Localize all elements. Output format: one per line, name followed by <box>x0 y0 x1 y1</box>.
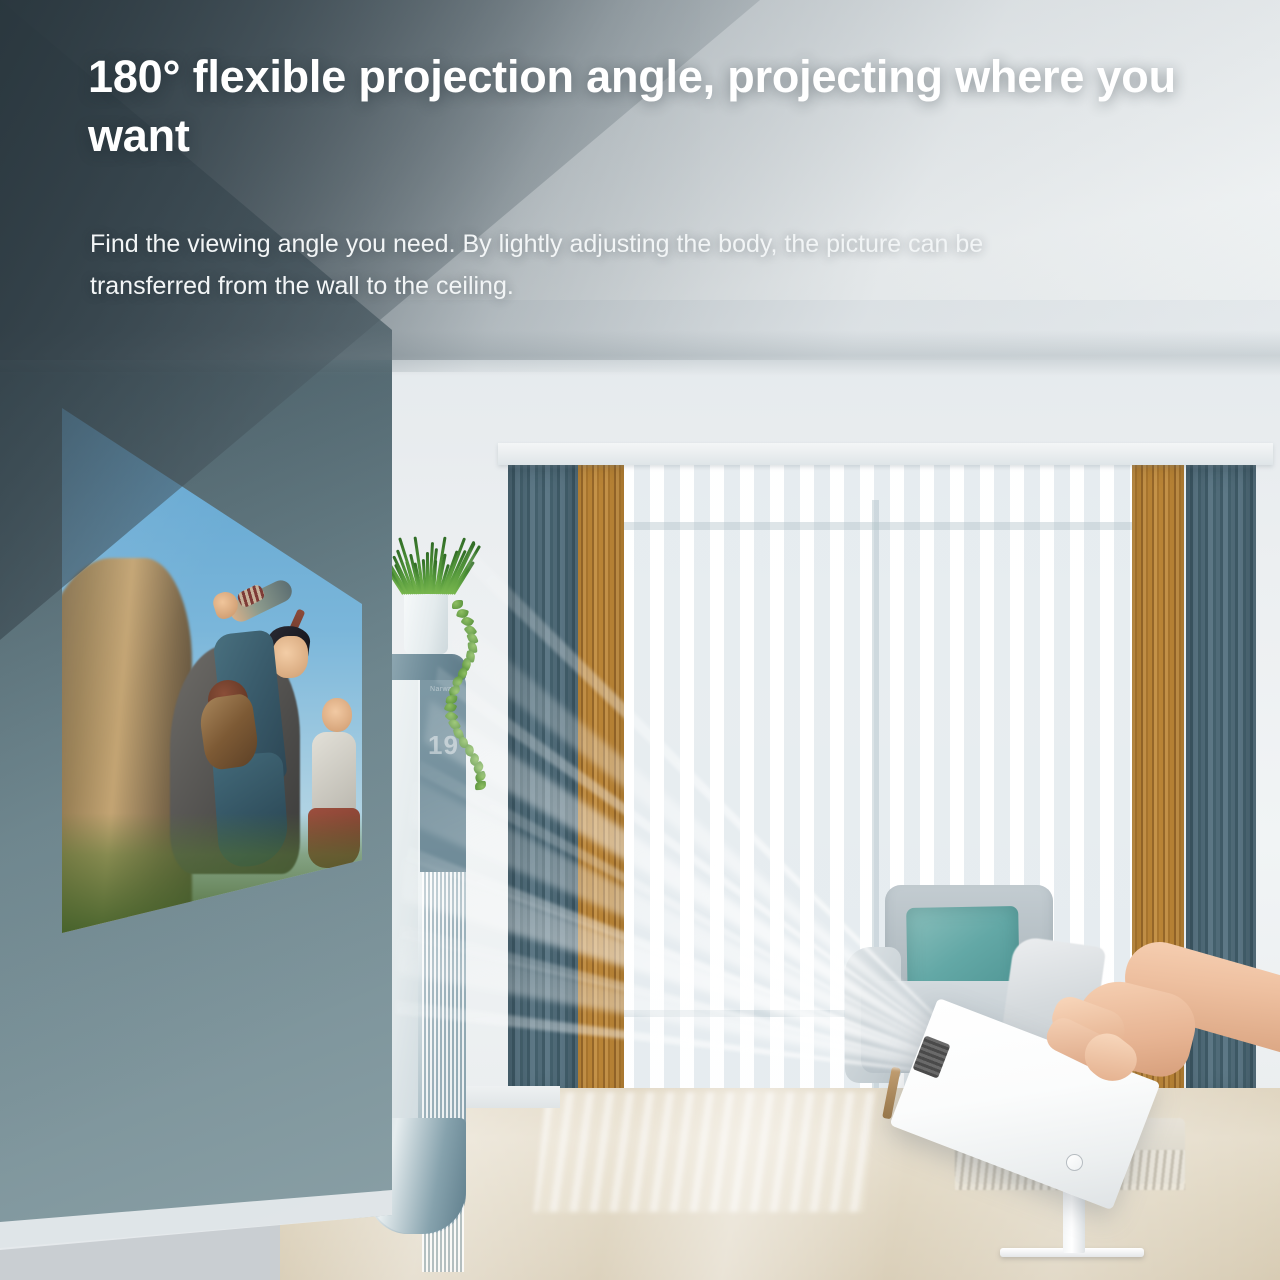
curtain-valance <box>498 443 1273 465</box>
drape-left <box>508 462 578 1102</box>
hero-head <box>272 636 308 678</box>
hero-satchel <box>197 693 260 772</box>
trailing-vine <box>446 600 492 800</box>
vine-leaf <box>475 780 486 790</box>
hand-adjusting-projector <box>1030 960 1280 1160</box>
page-subtitle: Find the viewing angle you need. By ligh… <box>90 224 1110 307</box>
npc-head <box>322 698 352 732</box>
window-rail-top <box>610 522 1150 530</box>
promo-banner: Narwal 19 <box>0 0 1280 1280</box>
wood-slat-panel-left <box>572 462 624 1102</box>
grass-plant <box>398 532 456 594</box>
page-title: 180° flexible projection angle, projecti… <box>88 48 1198 165</box>
plant-pot <box>404 592 448 654</box>
npc-body <box>312 732 356 820</box>
vine-leaf <box>452 600 463 609</box>
